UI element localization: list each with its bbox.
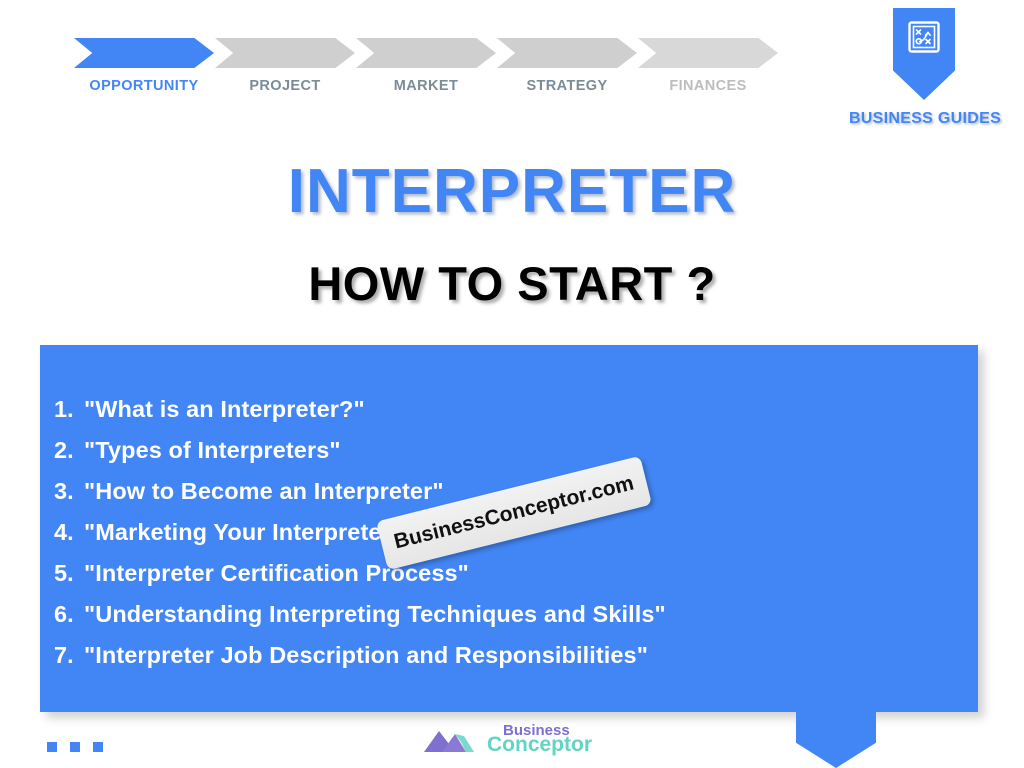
list-item-number: 2.	[54, 430, 84, 471]
page-subtitle: HOW TO START ?	[0, 256, 1024, 311]
brand-banner-ribbon	[893, 8, 955, 100]
list-item[interactable]: 1. "What is an Interpreter?"	[54, 389, 978, 430]
page-title: INTERPRETER	[0, 156, 1024, 227]
strategy-playbook-icon	[907, 20, 941, 54]
breadcrumb-step-label: FINANCES	[638, 78, 778, 94]
list-item[interactable]: 5. "Interpreter Certification Process"	[54, 553, 978, 594]
chevron-arrow-icon	[497, 38, 637, 68]
dot-icon	[93, 742, 103, 752]
list-item[interactable]: 2. "Types of Interpreters"	[54, 430, 978, 471]
breadcrumb-step-market[interactable]: MARKET	[356, 38, 496, 94]
list-item-number: 1.	[54, 389, 84, 430]
footer-dots	[47, 742, 103, 752]
list-item[interactable]: 6. "Understanding Interpreting Technique…	[54, 594, 978, 635]
list-item-number: 4.	[54, 512, 84, 553]
breadcrumb-step-label: STRATEGY	[497, 78, 637, 94]
list-item-text: "Interpreter Job Description and Respons…	[84, 635, 648, 676]
chevron-arrow-icon	[638, 38, 778, 68]
breadcrumb-step-opportunity[interactable]: OPPORTUNITY	[74, 38, 214, 94]
list-item-text: "Understanding Interpreting Techniques a…	[84, 594, 666, 635]
list-item-text: "Types of Interpreters"	[84, 430, 341, 471]
breadcrumb-step-label: MARKET	[356, 78, 496, 94]
chevron-arrow-icon	[356, 38, 496, 68]
dot-icon	[70, 742, 80, 752]
list-item[interactable]: 7. "Interpreter Job Description and Resp…	[54, 635, 978, 676]
list-item-number: 6.	[54, 594, 84, 635]
list-item-text: "How to Become an Interpreter"	[84, 471, 444, 512]
breadcrumb-step-project[interactable]: PROJECT	[215, 38, 355, 94]
list-item-text: "What is an Interpreter?"	[84, 389, 365, 430]
list-item-number: 7.	[54, 635, 84, 676]
footer-wordmark: Business Conceptor	[487, 723, 592, 755]
chevron-arrow-icon	[215, 38, 355, 68]
footer-logo: Business Conceptor	[422, 722, 592, 756]
breadcrumb-step-strategy[interactable]: STRATEGY	[497, 38, 637, 94]
wordmark-conceptor: Conceptor	[487, 734, 592, 755]
mountain-peaks-icon	[422, 722, 484, 756]
breadcrumb-step-label: OPPORTUNITY	[74, 78, 214, 94]
list-item-number: 5.	[54, 553, 84, 594]
breadcrumb-step-finances[interactable]: FINANCES	[638, 38, 778, 94]
dot-icon	[47, 742, 57, 752]
list-item-number: 3.	[54, 471, 84, 512]
breadcrumb: OPPORTUNITY PROJECT MARKET STRATEGY FINA…	[74, 38, 779, 94]
chevron-arrow-icon	[74, 38, 214, 68]
brand-label: BUSINESS GUIDES	[820, 110, 1024, 128]
footer-banner-ribbon	[796, 712, 876, 768]
slide-canvas: OPPORTUNITY PROJECT MARKET STRATEGY FINA…	[0, 0, 1024, 768]
breadcrumb-step-label: PROJECT	[215, 78, 355, 94]
